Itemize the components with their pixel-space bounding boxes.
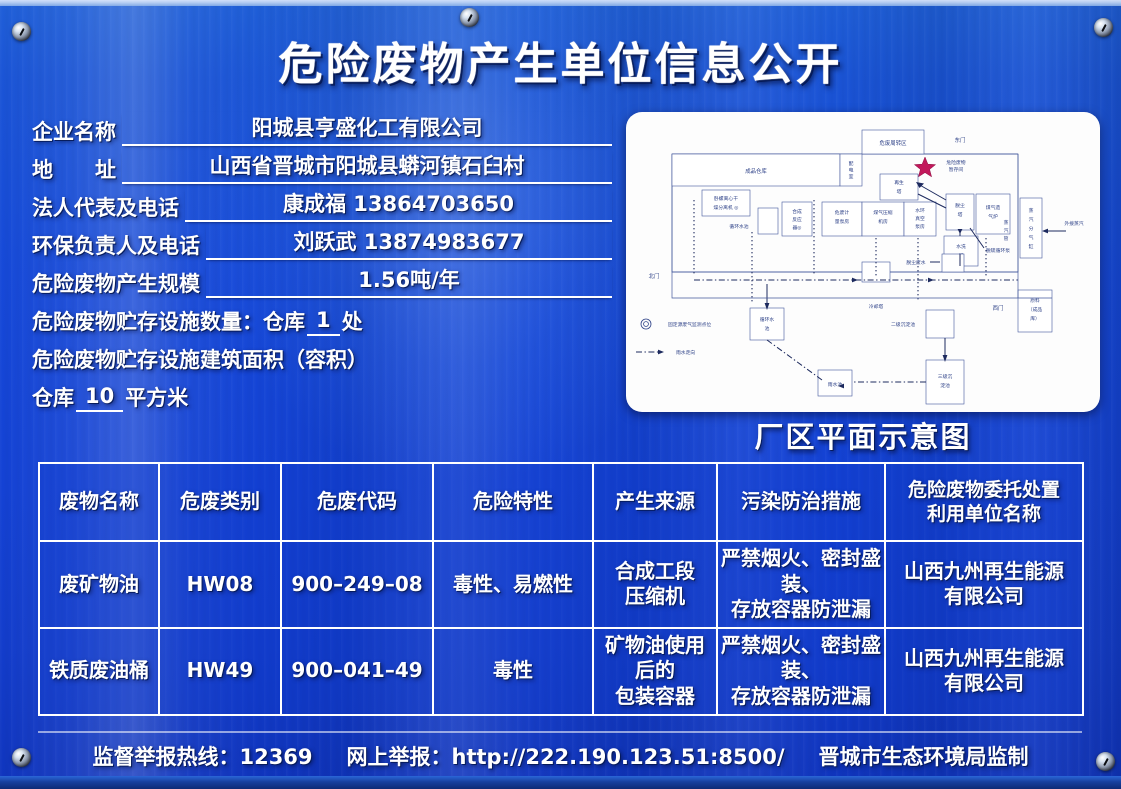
diagram-box-label: 水环 [915, 207, 925, 214]
cell-control: 严禁烟火、密封盛装、 存放容器防泄漏 [717, 541, 885, 628]
cell-code: 900–249–08 [281, 541, 433, 628]
info-label: 地 址 [32, 154, 116, 184]
diagram-annotation: 暂存间 [949, 166, 964, 173]
factory-plan-diagram: 成品仓库 配 电 室 危废周转区 东门 危险废物 暂存间 再生 塔 卧螺离心干 … [626, 112, 1100, 412]
information-board: 危险废物产生单位信息公开 企业名称 阳城县亨盛化工有限公司 地 址 山西省晋城市… [0, 0, 1121, 789]
table-row: 废矿物油 HW08 900–249–08 毒性、易燃性 合成工段 压缩机 严禁烟… [39, 541, 1083, 628]
col-header-control: 污染防治措施 [717, 463, 885, 541]
footer-hotline: 监督举报热线：12369 [92, 741, 312, 771]
diagram-annotation: 危险废物 [946, 159, 965, 166]
info-value: 刘跃武 13874983677 [206, 226, 612, 260]
factory-plan-svg: 成品仓库 配 电 室 危废周转区 东门 危险废物 暂存间 再生 塔 卧螺离心干 … [626, 112, 1100, 412]
screw-icon [460, 8, 479, 27]
diagram-box-label: 合成 [792, 208, 802, 215]
screw-icon [1096, 752, 1115, 771]
diagram-box-label: 卧螺离心干 [714, 195, 738, 202]
diagram-box-label: 汽 [1029, 216, 1034, 223]
info-row-address: 地 址 山西省晋城市阳城县蟒河镇石臼村 [32, 146, 612, 184]
col-header-source: 产生来源 [593, 463, 717, 541]
diagram-annotation: 外接蒸汽 [1064, 220, 1083, 227]
info-label: 法人代表及电话 [32, 192, 179, 222]
cell-source: 合成工段 压缩机 [593, 541, 717, 628]
info-value: 1 [307, 308, 340, 336]
cell-code: 900–041–49 [281, 628, 433, 715]
col-header-entrusted-line2: 利用单位名称 [889, 502, 1079, 526]
col-header-waste-name: 废物名称 [39, 463, 159, 541]
info-label: 环保负责人及电话 [32, 230, 200, 260]
diagram-box-label: 反应 [792, 216, 802, 223]
cell-entrusted-line1: 山西九州再生能源 [889, 646, 1079, 672]
diagram-annotation: 脱硫循环泵 [986, 247, 1010, 254]
diagram-box-label: 气炉 [988, 213, 998, 220]
diagram-box-label: 雨水池 [828, 381, 843, 388]
cell-entrusted-line1: 山西九州再生能源 [889, 559, 1079, 585]
col-header-code: 危废代码 [281, 463, 433, 541]
diagram-box-label: 塔 [958, 211, 963, 218]
diagram-box-label: 循环水 [760, 316, 775, 323]
cell-source: 矿物油使用后的 包装容器 [593, 628, 717, 715]
cell-entrusted-line2: 有限公司 [889, 671, 1079, 697]
diagram-box-label: 库） [1030, 315, 1040, 322]
cell-control-line1: 严禁烟火、密封盛装、 [721, 546, 881, 597]
cell-control-line2: 存放容器防泄漏 [721, 597, 881, 623]
diagram-box-label: 淀池 [940, 382, 950, 389]
diagram-box-label: 三级沉 [938, 373, 953, 380]
diagram-box-label: 配 [849, 161, 854, 167]
col-header-hazard: 危险特性 [433, 463, 593, 541]
info-label: 企业名称 [32, 116, 116, 146]
diagram-annotation: 蒸 [1004, 219, 1009, 226]
table-header-row: 废物名称 危废类别 危废代码 危险特性 产生来源 污染防治措施 危险废物委托处置… [39, 463, 1083, 541]
board-top-edge [0, 0, 1121, 6]
info-row-facility-area-value: 仓库 10 平方米 [32, 374, 612, 412]
info-label: 仓库 [32, 382, 74, 412]
diagram-annotation: 循环水池 [729, 223, 748, 230]
diagram-box-label: 二级沉淀池 [891, 321, 915, 328]
diagram-box-label: 器◎ [793, 225, 802, 231]
info-row-facility-count: 危险废物贮存设施数量：仓库 1 处 [32, 298, 612, 336]
cell-entrusted-unit: 山西九州再生能源 有限公司 [885, 541, 1083, 628]
diagram-annotation: 脱尘废水 [906, 259, 925, 266]
cell-control-line1: 严禁烟火、密封盛装、 [721, 633, 881, 684]
diagram-box-label: 煤气造 [986, 204, 1001, 211]
diagram-box-label: 脱尘 [955, 202, 965, 209]
diagram-box-label: 气 [1029, 234, 1034, 241]
screw-icon [12, 748, 31, 767]
cell-entrusted-unit: 山西九州再生能源 有限公司 [885, 628, 1083, 715]
info-unit: 平方米 [125, 382, 188, 412]
diagram-box-label: 真空 [915, 215, 925, 222]
company-info-panel: 企业名称 阳城县亨盛化工有限公司 地 址 山西省晋城市阳城县蟒河镇石臼村 法人代… [32, 108, 612, 412]
diagram-box-label: 危废计 [835, 209, 850, 216]
diagram-gate-label: 东门 [955, 136, 966, 144]
cell-source-line2: 压缩机 [597, 584, 713, 610]
cell-control: 严禁烟火、密封盛装、 存放容器防泄漏 [717, 628, 885, 715]
diagram-gate-label: 西门 [993, 304, 1004, 312]
cell-source-line2: 包装容器 [597, 684, 713, 710]
cell-category: HW08 [159, 541, 281, 628]
diagram-box-label: 泵房 [915, 223, 925, 230]
diagram-box-label: 机房 [878, 218, 888, 225]
diagram-box-label: 塔 [897, 188, 902, 195]
diagram-annotation: 汽 [1004, 227, 1009, 234]
info-value: 阳城县亨盛化工有限公司 [122, 112, 612, 146]
info-row-facility-area-title: 危险废物贮存设施建筑面积（容积） [32, 336, 612, 374]
diagram-box-label: 煤气压缩 [873, 209, 892, 216]
diagram-legend: 固定源废气监测点位 雨水走向 [636, 319, 711, 356]
footer-issuer: 晋城市生态环境局监制 [819, 741, 1029, 771]
info-row-company-name: 企业名称 阳城县亨盛化工有限公司 [32, 108, 612, 146]
cell-source-line1: 矿物油使用后的 [597, 633, 713, 684]
footer-bar: 监督举报热线：12369 网上举报：http://222.190.123.51:… [0, 741, 1121, 771]
diagram-gate-label: 北门 [649, 272, 660, 280]
diagram-box-label: 成品仓库 [745, 167, 767, 175]
diagram-box-label: 缸 [1029, 243, 1034, 250]
info-value: 山西省晋城市阳城县蟒河镇石臼村 [122, 150, 612, 184]
table-row: 铁质废油桶 HW49 900–041–49 毒性 矿物油使用后的 包装容器 严禁… [39, 628, 1083, 715]
cell-hazard: 毒性 [433, 628, 593, 715]
diagram-box-label: 冷却塔 [869, 303, 884, 310]
screw-icon [12, 22, 31, 41]
info-label: 危险废物贮存设施数量：仓库 [32, 306, 305, 336]
cell-waste-name: 铁质废油桶 [39, 628, 159, 715]
board-bottom-edge [0, 776, 1121, 789]
diagram-box-label: 水洗 [956, 243, 966, 250]
cell-hazard: 毒性、易燃性 [433, 541, 593, 628]
info-row-legal-rep: 法人代表及电话 康成福 13864703650 [32, 184, 612, 222]
info-label: 危险废物贮存设施建筑面积（容积） [32, 344, 368, 374]
diagram-caption: 厂区平面示意图 [626, 414, 1100, 456]
col-header-entrusted-line1: 危险废物委托处置 [889, 478, 1079, 502]
col-header-entrusted-unit: 危险废物委托处置 利用单位名称 [885, 463, 1083, 541]
info-value: 康成福 13864703650 [185, 188, 612, 222]
cell-waste-name: 废矿物油 [39, 541, 159, 628]
footer-divider [38, 731, 1082, 733]
diagram-box-label: 燥分离机 ◎ [714, 204, 739, 211]
footer-online-report: 网上举报：http://222.190.123.51:8500/ [347, 741, 785, 771]
diagram-box-label: 室 [849, 173, 854, 180]
diagram-box-label: 再生 [894, 179, 904, 186]
info-row-env-officer: 环保负责人及电话 刘跃武 13874983677 [32, 222, 612, 260]
hazardous-waste-table: 废物名称 危废类别 危废代码 危险特性 产生来源 污染防治措施 危险废物委托处置… [38, 462, 1084, 716]
diagram-box-label: 分 [1029, 225, 1034, 232]
cell-control-line2: 存放容器防泄漏 [721, 684, 881, 710]
legend-text: 雨水走向 [676, 349, 695, 356]
diagram-box-label: 量泵房 [835, 218, 850, 225]
col-header-category: 危废类别 [159, 463, 281, 541]
diagram-annotation: 管 [1004, 235, 1009, 242]
diagram-box-label: 电 [849, 167, 854, 174]
info-value: 1.56吨/年 [206, 264, 612, 298]
diagram-box-label: 池 [765, 325, 770, 332]
info-value: 10 [76, 384, 123, 412]
diagram-box-label: 蒸 [1029, 207, 1034, 214]
info-label: 危险废物产生规模 [32, 268, 200, 298]
diagram-box-label: 危废周转区 [880, 139, 908, 147]
legend-text: 固定源废气监测点位 [668, 321, 711, 328]
screw-icon [1094, 18, 1113, 37]
cell-entrusted-line2: 有限公司 [889, 584, 1079, 610]
cell-source-line1: 合成工段 [597, 559, 713, 585]
info-unit: 处 [342, 306, 363, 336]
diagram-box-label: （成品 [1028, 306, 1043, 313]
info-row-generation-scale: 危险废物产生规模 1.56吨/年 [32, 260, 612, 298]
cell-category: HW49 [159, 628, 281, 715]
page-title: 危险废物产生单位信息公开 [0, 28, 1121, 92]
